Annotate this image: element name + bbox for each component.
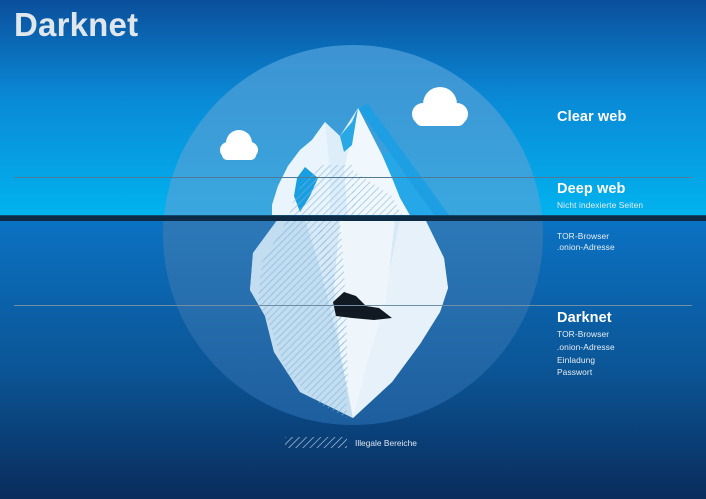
- legend-label: Illegale Bereiche: [355, 439, 417, 447]
- label-deep-web: Deep web: [557, 182, 626, 197]
- label-darknet: Darknet: [557, 311, 612, 326]
- label-deep-tor-browser: TOR-Browser: [557, 232, 609, 240]
- label-dark-password: Passwort: [557, 368, 592, 376]
- infographic-canvas: Darknet Clear web Deep web Nicht indexie…: [0, 0, 706, 499]
- label-clear-web: Clear web: [557, 110, 626, 125]
- label-deep-web-subtitle: Nicht indexierte Seiten: [557, 201, 643, 209]
- label-dark-tor-browser: TOR-Browser: [557, 330, 609, 338]
- label-deep-onion-address: .onion-Adresse: [557, 243, 615, 251]
- waterline-highlight: [0, 215, 706, 216]
- label-dark-invitation: Einladung: [557, 356, 595, 364]
- page-title: Darknet: [14, 8, 138, 41]
- label-dark-onion-address: .onion-Adresse: [557, 343, 615, 351]
- legend-hatch-swatch: [285, 437, 347, 448]
- waterline-band: [0, 216, 706, 221]
